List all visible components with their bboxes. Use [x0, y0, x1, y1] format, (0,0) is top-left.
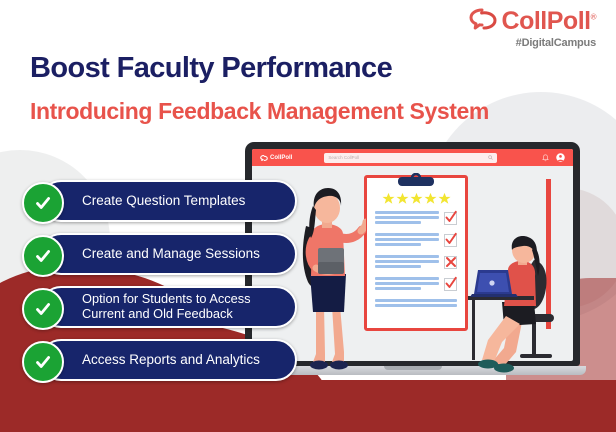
text-line [375, 304, 457, 307]
user-avatar-icon[interactable] [556, 153, 565, 162]
feature-item[interactable]: Access Reports and Analytics [22, 339, 297, 381]
bell-icon[interactable] [542, 154, 549, 162]
text-line [375, 211, 439, 214]
text-line [375, 238, 439, 241]
clipboard-text-lines [375, 255, 439, 270]
text-line [375, 277, 439, 280]
text-line [375, 282, 439, 285]
laptop-trackpad-notch [384, 366, 442, 370]
text-line [375, 265, 421, 268]
app-bar-brand-name: CollPoll [270, 155, 292, 161]
feature-label: Create and Manage Sessions [82, 246, 270, 262]
brand-tagline: #DigitalCampus [469, 37, 596, 49]
clipboard-text-lines [375, 211, 439, 226]
text-line [375, 255, 439, 258]
search-input[interactable]: Search CollPoll [324, 153, 497, 163]
search-icon [488, 155, 493, 160]
brand-logo-row: CollPoll® [469, 8, 596, 35]
feature-label: Access Reports and Analytics [82, 352, 270, 368]
registered-mark: ® [591, 13, 596, 22]
check-mark-icon [444, 232, 458, 246]
speech-bubbles-icon [469, 8, 497, 35]
feature-label: Option for Students to Access Current an… [82, 292, 297, 321]
clipboard-clip-icon [393, 173, 439, 194]
feature-item[interactable]: Option for Students to Access Current an… [22, 286, 297, 328]
clipboard-row [375, 255, 457, 270]
seated-woman-with-laptop [468, 236, 560, 381]
text-line [375, 299, 457, 302]
feature-list: Create Question Templates Create and Man… [22, 180, 297, 392]
clipboard-text-lines [375, 277, 439, 292]
clipboard-body [364, 175, 468, 331]
clipboard-row [375, 233, 457, 248]
checkbox-checked[interactable] [444, 212, 457, 225]
text-line [375, 216, 439, 219]
text-line [375, 260, 439, 263]
clipboard-illustration [364, 175, 468, 331]
clipboard-row [375, 277, 457, 292]
text-line [375, 243, 421, 246]
check-icon [22, 341, 64, 383]
check-mark-icon [444, 276, 458, 290]
text-line [375, 221, 421, 224]
check-icon [22, 288, 64, 330]
check-icon [22, 235, 64, 277]
page-subtitle: Introducing Feedback Management System [30, 98, 489, 125]
checkbox-checked[interactable] [444, 234, 457, 247]
check-icon [22, 182, 64, 224]
search-placeholder: Search CollPoll [328, 155, 359, 160]
clipboard-footer-lines [375, 299, 457, 307]
text-line [375, 233, 439, 236]
checkbox-checked[interactable] [444, 278, 457, 291]
feature-item[interactable]: Create Question Templates [22, 180, 297, 222]
page-title: Boost Faculty Performance [30, 52, 392, 85]
speech-bubbles-icon [260, 155, 268, 161]
promotional-poster: CollPoll® #DigitalCampus Boost Faculty P… [0, 0, 616, 432]
check-mark-icon [444, 210, 458, 224]
cross-mark-icon [445, 256, 457, 268]
feature-label: Create Question Templates [82, 193, 255, 209]
feature-item[interactable]: Create and Manage Sessions [22, 233, 297, 275]
brand-logo-text: CollPoll® [502, 9, 596, 34]
app-header-bar: CollPoll Search CollPoll [252, 149, 573, 166]
app-bar-icons [542, 153, 565, 162]
app-bar-logo: CollPoll [260, 155, 292, 161]
brand-name: CollPoll [502, 7, 591, 35]
brand-logo: CollPoll® #DigitalCampus [469, 8, 596, 49]
star-icon [438, 192, 451, 205]
text-line [375, 287, 421, 290]
clipboard-text-lines [375, 233, 439, 248]
standing-woman-with-tablet [288, 186, 366, 379]
clipboard-row [375, 211, 457, 226]
checkbox-crossed[interactable] [444, 256, 457, 269]
